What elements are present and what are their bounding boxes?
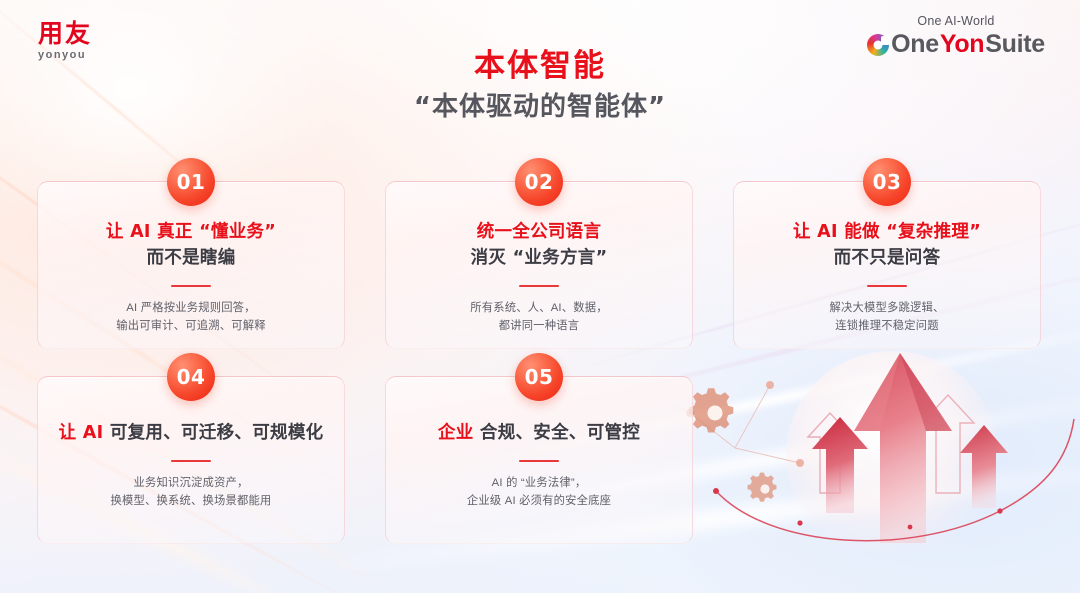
card-desc-line-1: 业务知识沉淀成资产， [50,474,332,492]
card-description: 解决大模型多跳逻辑、 连锁推理不稳定问题 [746,299,1028,336]
arrow-big-light [854,353,900,431]
card-body: 让 AI 可复用、可迁移、可规模化 业务知识沉淀成资产， 换模型、换系统、换场景… [38,421,344,510]
node-links [690,385,800,463]
feature-card-05[interactable]: 05 企业 合规、安全、可管控 AI 的 “业务法律”， 企业级 AI 必须有的… [385,376,693,544]
card-divider [171,285,211,287]
gear-icon-small [748,473,777,502]
feature-card-03[interactable]: 03 让 AI 能做 “复杂推理” 而不只是问答 解决大模型多跳逻辑、 连锁推理… [733,181,1041,349]
swoosh-node [713,488,719,494]
card-number-badge: 04 [167,353,215,401]
card-divider [171,460,211,462]
card-description: AI 严格按业务规则回答， 输出可审计、可追溯、可解释 [50,299,332,336]
card-title: 让 AI 真正 “懂业务” 而不是瞎编 [50,220,332,272]
card-description: AI 的 “业务法律”， 企业级 AI 必须有的安全底座 [398,474,680,511]
card-body: 统一全公司语言 消灭 “业务方言” 所有系统、人、AI、数据， 都讲同一种语言 [386,220,692,335]
yonyou-logo-cn: 用友 [38,20,168,48]
card-title-highlight: 让 AI [59,423,104,443]
card-desc-line-2: 连锁推理不稳定问题 [746,317,1028,335]
card-desc-line-2: 企业级 AI 必须有的安全底座 [398,492,680,510]
swoosh-curve [716,419,1074,541]
network-node [796,459,804,467]
card-title-rest: 而不是瞎编 [50,246,332,272]
slide-root: 用友 yonyou One AI-World One Yon Suite 本体智… [0,0,1080,593]
card-body: 让 AI 真正 “懂业务” 而不是瞎编 AI 严格按业务规则回答， 输出可审计、… [38,220,344,335]
arrow-small-right [960,425,1008,508]
card-body: 让 AI 能做 “复杂推理” 而不只是问答 解决大模型多跳逻辑、 连锁推理不稳定… [734,220,1040,335]
card-title-highlight: 企业 [438,423,474,443]
network-node [766,381,774,389]
card-divider [519,460,559,462]
swoosh-node [908,525,913,530]
card-desc-line-1: AI 严格按业务规则回答， [50,299,332,317]
card-desc-line-2: 都讲同一种语言 [398,317,680,335]
card-title-highlight: 让 AI 真正 “懂业务” [50,220,332,246]
title-block: 本体智能 “本体驱动的智能体” [0,48,1080,123]
card-description: 业务知识沉淀成资产， 换模型、换系统、换场景都能用 [50,474,332,511]
card-number-badge: 01 [167,158,215,206]
card-desc-line-2: 换模型、换系统、换场景都能用 [50,492,332,510]
card-divider [867,285,907,287]
page-title: 本体智能 [0,48,1080,85]
card-divider [519,285,559,287]
card-title-rest: 而不只是问答 [746,246,1028,272]
card-title: 让 AI 能做 “复杂推理” 而不只是问答 [746,220,1028,272]
brand-tagline: One AI-World [866,14,1046,28]
card-body: 企业 合规、安全、可管控 AI 的 “业务法律”， 企业级 AI 必须有的安全底… [386,421,692,510]
card-title-rest: 合规、安全、可管控 [480,423,640,443]
card-title: 让 AI 可复用、可迁移、可规模化 [50,421,332,447]
arrow-outline-left [808,413,852,493]
card-title-highlight: 让 AI 能做 “复杂推理” [746,220,1028,246]
feature-card-04[interactable]: 04 让 AI 可复用、可迁移、可规模化 业务知识沉淀成资产， 换模型、换系统、… [37,376,345,544]
card-desc-line-1: AI 的 “业务法律”， [398,474,680,492]
feature-card-02[interactable]: 02 统一全公司语言 消灭 “业务方言” 所有系统、人、AI、数据， 都讲同一种… [385,181,693,349]
card-title: 企业 合规、安全、可管控 [398,421,680,447]
card-number-badge: 02 [515,158,563,206]
swoosh-node [797,520,802,525]
card-title-rest: 可复用、可迁移、可规模化 [110,423,324,443]
card-title-rest: 消灭 “业务方言” [398,246,680,272]
arrow-outline-right [922,395,974,493]
swoosh-node [997,508,1002,513]
card-description: 所有系统、人、AI、数据， 都讲同一种语言 [398,299,680,336]
card-desc-line-2: 输出可审计、可追溯、可解释 [50,317,332,335]
card-title: 统一全公司语言 消灭 “业务方言” [398,220,680,272]
growth-arrows-illustration [660,343,1080,593]
card-desc-line-1: 所有系统、人、AI、数据， [398,299,680,317]
card-number-badge: 05 [515,353,563,401]
glow-orb [786,351,998,559]
arrow-big-center [854,353,952,543]
card-title-highlight: 统一全公司语言 [398,220,680,246]
card-number-badge: 03 [863,158,911,206]
arrow-big-shade [900,353,952,431]
feature-card-01[interactable]: 01 让 AI 真正 “懂业务” 而不是瞎编 AI 严格按业务规则回答， 输出可… [37,181,345,349]
page-subtitle: “本体驱动的智能体” [0,92,1080,123]
card-desc-line-1: 解决大模型多跳逻辑、 [746,299,1028,317]
arrow-mid-left [812,417,868,513]
gear-icon-large [689,388,733,432]
